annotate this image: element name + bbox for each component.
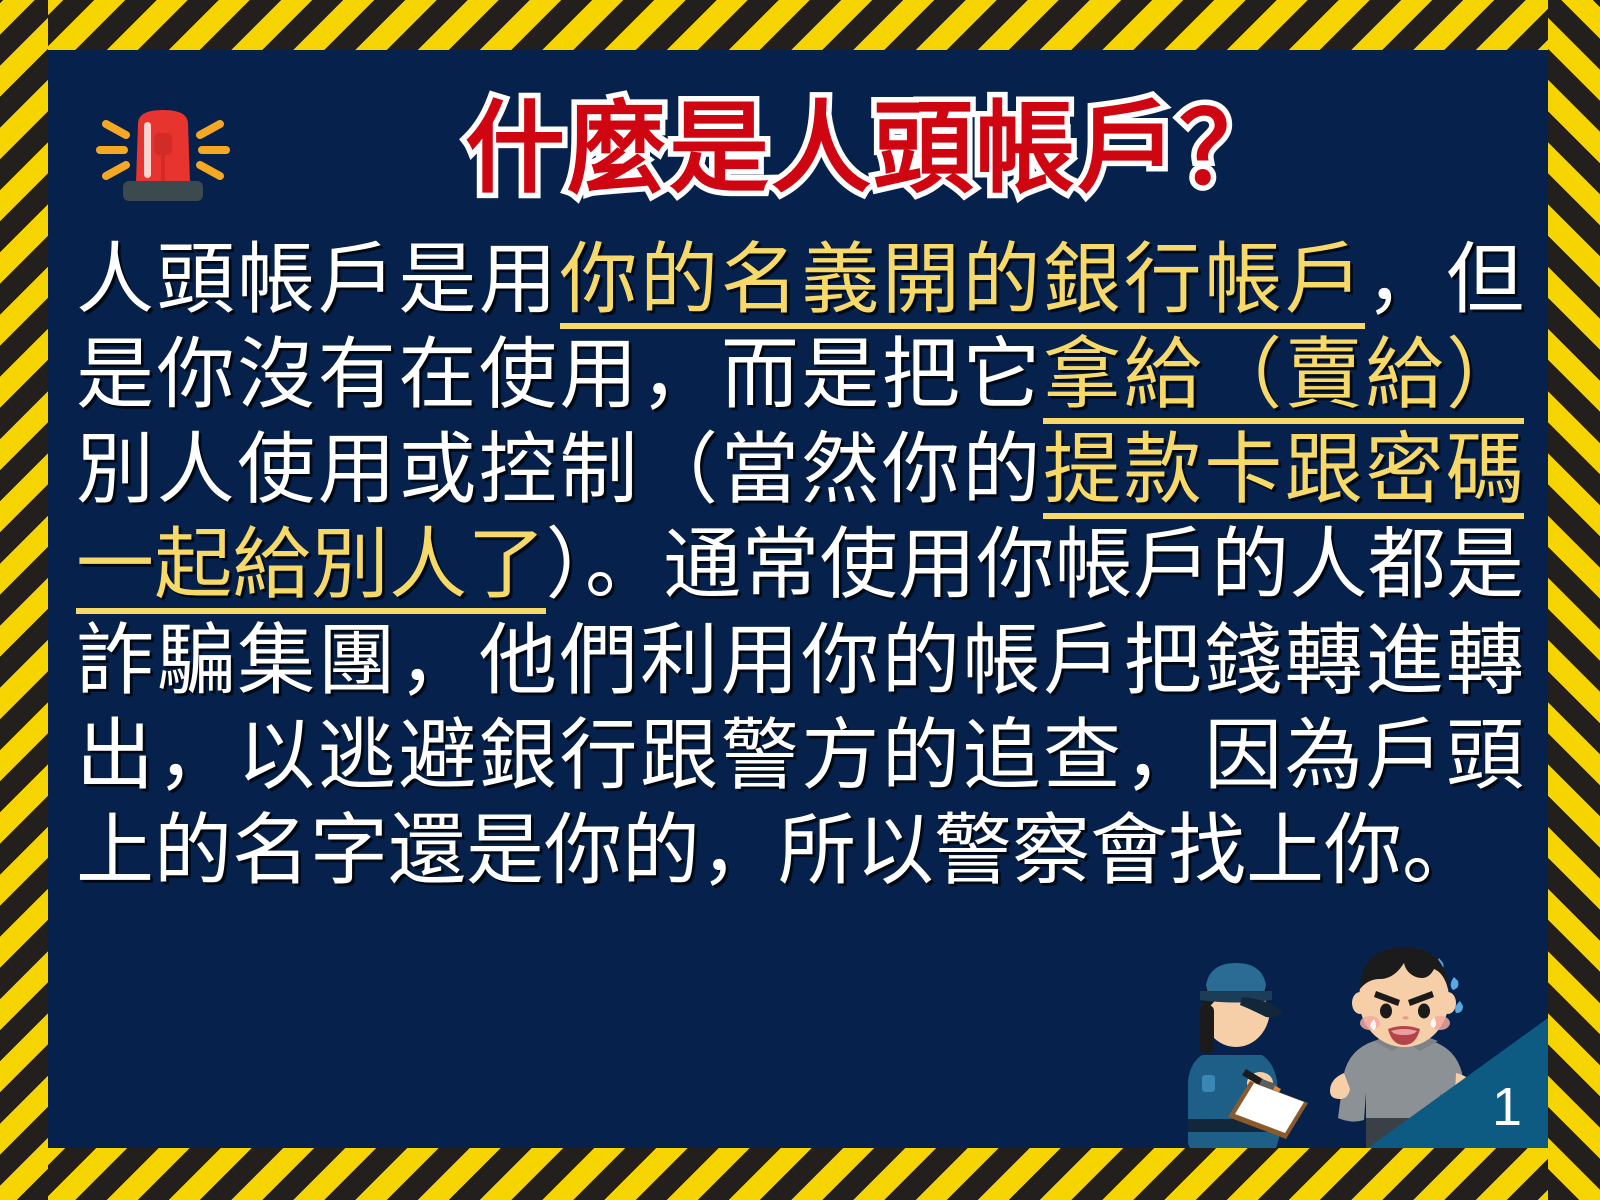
body-plain-span: 別人使用或控制（當然你的	[76, 426, 1043, 513]
police-siren-icon	[88, 88, 238, 208]
hazard-border-bottom	[0, 1148, 1600, 1200]
page-title: 什麼是人頭帳戶？	[238, 96, 1518, 201]
hazard-border-left	[0, 0, 48, 1200]
body-highlight-span: 你的名義開的銀行帳戶	[560, 236, 1366, 329]
hazard-border-right	[1548, 0, 1600, 1200]
page-number: 1	[1368, 1018, 1548, 1148]
body-paragraph: 人頭帳戶是用你的名義開的銀行帳戶，但是你沒有在使用，而是把它拿給（賣給）別人使用…	[76, 232, 1524, 898]
body-highlight-span: 拿給（賣給）	[1043, 331, 1524, 424]
slide-root: 什麼是人頭帳戶？ 人頭帳戶是用你的名義開的銀行帳戶，但是你沒有在使用，而是把它拿…	[0, 0, 1600, 1200]
title-row: 什麼是人頭帳戶？	[88, 68, 1518, 228]
hazard-border-top	[0, 0, 1600, 50]
body-plain-span: 人頭帳戶是用	[76, 236, 560, 323]
slide-content-panel: 什麼是人頭帳戶？ 人頭帳戶是用你的名義開的銀行帳戶，但是你沒有在使用，而是把它拿…	[48, 50, 1548, 1148]
